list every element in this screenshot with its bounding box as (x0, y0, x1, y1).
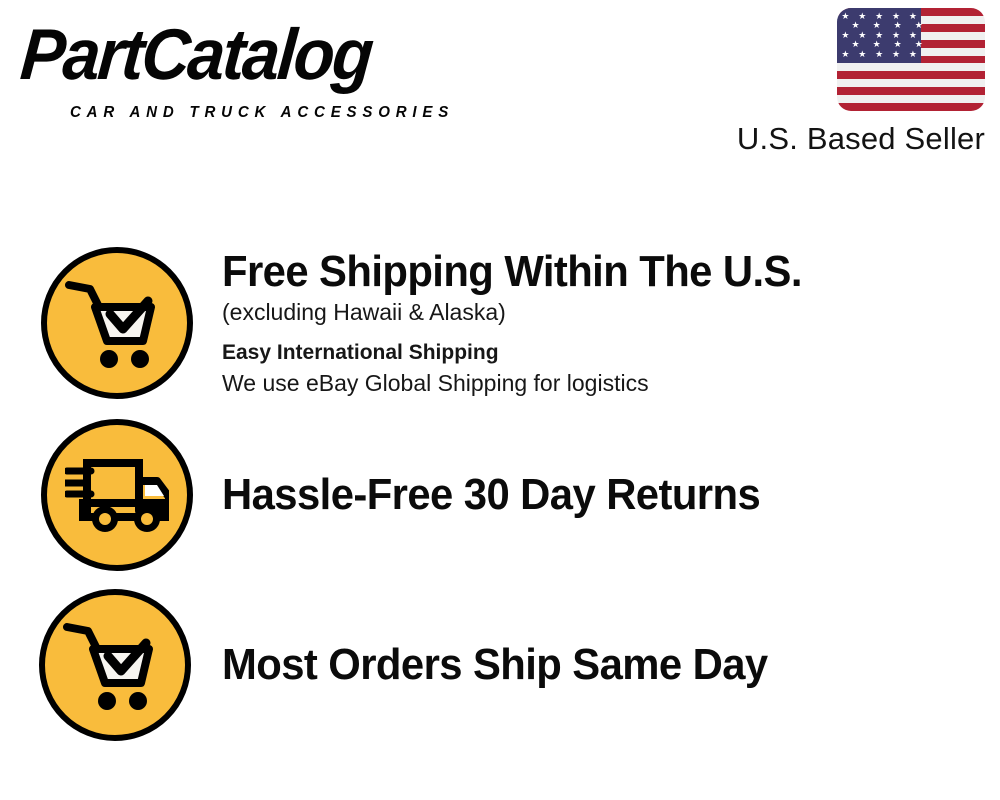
flag-star-icon: ★ (841, 12, 849, 21)
delivery-truck-icon (65, 453, 169, 537)
shopping-cart-check-icon (65, 277, 169, 369)
us-flag-icon: ★ ★ ★ ★ ★ ★ ★ ★ ★ ★ ★ ★ ★ ★ ★ ★ (837, 8, 985, 111)
brand-logo[interactable]: PartCatalog CAR AND TRUCK ACCESSORIES (24, 18, 494, 118)
flag-star-icon: ★ (873, 40, 881, 49)
flag-star-icon: ★ (875, 50, 883, 59)
benefit-subnote: (excluding Hawaii & Alaska) (222, 297, 832, 328)
benefit-text-block: Free Shipping Within The U.S. (excluding… (222, 247, 832, 399)
flag-star-icon: ★ (852, 21, 860, 30)
us-based-seller-badge: ★ ★ ★ ★ ★ ★ ★ ★ ★ ★ ★ ★ ★ ★ ★ ★ (685, 8, 985, 158)
benefit-subdetail: We use eBay Global Shipping for logistic… (222, 368, 832, 399)
spacer (222, 328, 832, 338)
us-based-seller-label: U.S. Based Seller (685, 120, 985, 158)
flag-star-icon: ★ (841, 50, 849, 59)
benefit-row: Hassle-Free 30 Day Returns (0, 419, 1000, 571)
shopping-cart-check-icon-badge (39, 589, 191, 741)
flag-star-icon: ★ (892, 50, 900, 59)
benefit-heading: Most Orders Ship Same Day (222, 640, 768, 690)
brand-wordmark: PartCatalog (18, 18, 374, 92)
shopping-cart-check-icon (63, 619, 167, 711)
benefit-heading: Hassle-Free 30 Day Returns (222, 470, 760, 520)
brand-tagline: CAR AND TRUCK ACCESSORIES (70, 104, 454, 122)
benefit-text-block: Hassle-Free 30 Day Returns (222, 470, 788, 520)
flag-star-icon: ★ (909, 50, 917, 59)
benefit-row: Most Orders Ship Same Day (0, 589, 1000, 741)
flag-star-icon: ★ (841, 31, 849, 40)
flag-star-icon: ★ (915, 40, 923, 49)
shopping-cart-check-icon-badge (41, 247, 193, 399)
flag-star-icon: ★ (894, 21, 902, 30)
flag-star-icon: ★ (915, 21, 923, 30)
benefit-heading: Free Shipping Within The U.S. (222, 247, 802, 297)
flag-star-icon: ★ (852, 40, 860, 49)
flag-canton: ★ ★ ★ ★ ★ ★ ★ ★ ★ ★ ★ ★ ★ ★ ★ ★ (837, 8, 921, 63)
benefit-text-block: Most Orders Ship Same Day (222, 640, 796, 690)
delivery-truck-icon-badge (41, 419, 193, 571)
flag-star-icon: ★ (873, 21, 881, 30)
benefit-row: Free Shipping Within The U.S. (excluding… (0, 247, 1000, 399)
benefit-subheading: Easy International Shipping (222, 338, 832, 368)
flag-star-icon: ★ (894, 40, 902, 49)
flag-star-icon: ★ (858, 50, 866, 59)
